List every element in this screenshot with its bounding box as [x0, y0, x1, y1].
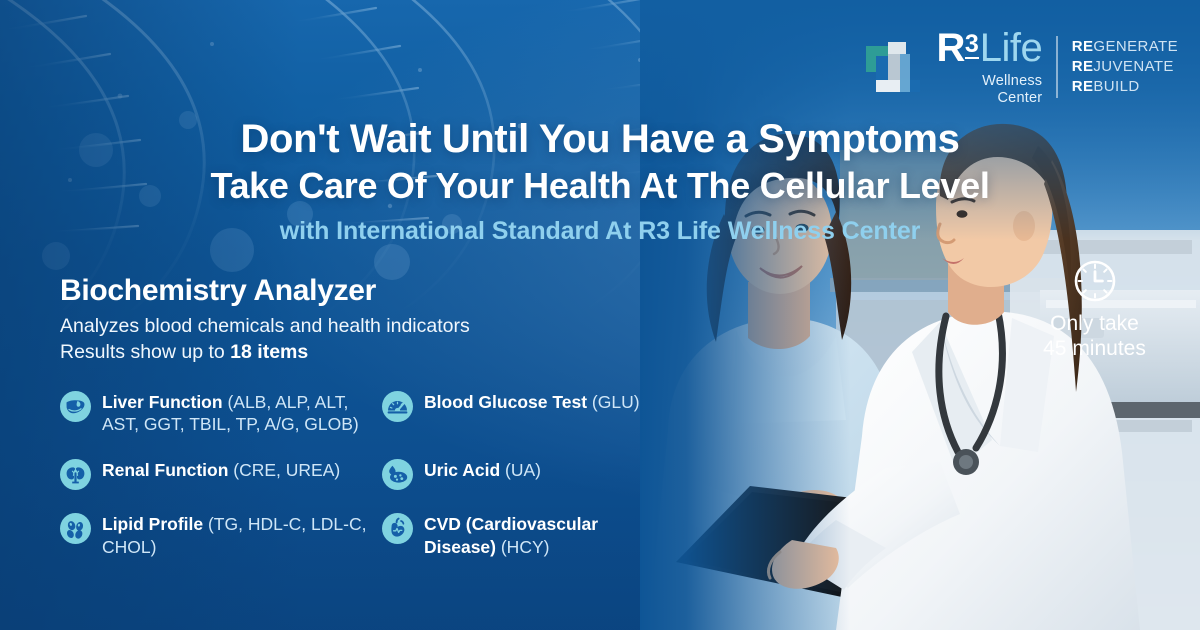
headline-line-2: Take Care Of Your Health At The Cellular… [0, 164, 1200, 207]
feature-item-uric-acid: Uric Acid (UA) [382, 458, 672, 490]
logo-subtitle: Wellness Center [982, 73, 1042, 106]
r3-life-logo[interactable]: R 3 Life Wellness Center REGENERATE REJU… [864, 28, 1178, 106]
section-description-line1: Analyzes blood chemicals and health indi… [60, 314, 670, 340]
glucose-gauge-icon [382, 391, 413, 422]
logo-subtitle-line2: Center [982, 90, 1042, 107]
duration-line2: 45 minutes [1027, 336, 1162, 361]
feature-item-lipid-profile: Lipid Profile (TG, HDL-C, LDL-C, CHOL) [60, 512, 382, 558]
logo-wordmark: R 3 Life Wellness Center [936, 28, 1042, 106]
tagline-regenerate: REGENERATE [1072, 38, 1178, 56]
lipid-icon [60, 513, 91, 544]
feature-item-renal-function: Renal Function (CRE, UREA) [60, 458, 382, 490]
feature-label-renal-function: Renal Function (CRE, UREA) [102, 458, 340, 482]
feature-item-blood-glucose-test: Blood Glucose Test (GLU) [382, 390, 672, 436]
logo-letter-r: R [936, 28, 964, 68]
clock-icon [1027, 258, 1162, 304]
duration-badge: Only take 45 minutes [1027, 258, 1162, 361]
section-title: Biochemistry Analyzer [60, 274, 670, 307]
brand-tagline: REGENERATE REJUVENATE REBUILD [1072, 38, 1178, 97]
duration-line1: Only take [1027, 311, 1162, 336]
kidney-icon [60, 459, 91, 490]
tagline-rejuvenate: REJUVENATE [1072, 58, 1178, 76]
duration-text: Only take 45 minutes [1027, 311, 1162, 361]
logo-word-life: Life [980, 28, 1043, 68]
section-description: Analyzes blood chemicals and health indi… [60, 314, 670, 366]
r3-logo-mark-icon [864, 36, 922, 98]
liver-icon [60, 391, 91, 422]
feature-label-lipid-profile: Lipid Profile (TG, HDL-C, LDL-C, CHOL) [102, 512, 382, 558]
promo-banner: R 3 Life Wellness Center REGENERATE REJU… [0, 0, 1200, 630]
feature-label-cvd: CVD (Cardiovascular Disease) (HCY) [424, 512, 672, 558]
heart-icon [382, 513, 413, 544]
headline-block: Don't Wait Until You Have a Symptoms Tak… [0, 116, 1200, 246]
feature-item-liver-function: Liver Function (ALB, ALP, ALT, AST, GGT,… [60, 390, 382, 436]
logo-subtitle-line1: Wellness [982, 73, 1042, 90]
logo-superscript-3: 3 [965, 33, 979, 59]
feature-item-cvd: CVD (Cardiovascular Disease) (HCY) [382, 512, 672, 558]
headline-line-1: Don't Wait Until You Have a Symptoms [0, 116, 1200, 162]
uric-acid-icon [382, 459, 413, 490]
analyzer-section: Biochemistry Analyzer Analyzes blood che… [60, 274, 670, 558]
headline-subline: with International Standard At R3 Life W… [0, 217, 1200, 246]
section-description-line2: Results show up to 18 items [60, 340, 670, 366]
tagline-rebuild: REBUILD [1072, 78, 1178, 96]
feature-label-liver-function: Liver Function (ALB, ALP, ALT, AST, GGT,… [102, 390, 382, 436]
feature-label-blood-glucose-test: Blood Glucose Test (GLU) [424, 390, 640, 414]
feature-label-uric-acid: Uric Acid (UA) [424, 458, 541, 482]
logo-divider [1056, 36, 1058, 98]
test-feature-grid: Liver Function (ALB, ALP, ALT, AST, GGT,… [60, 390, 670, 558]
